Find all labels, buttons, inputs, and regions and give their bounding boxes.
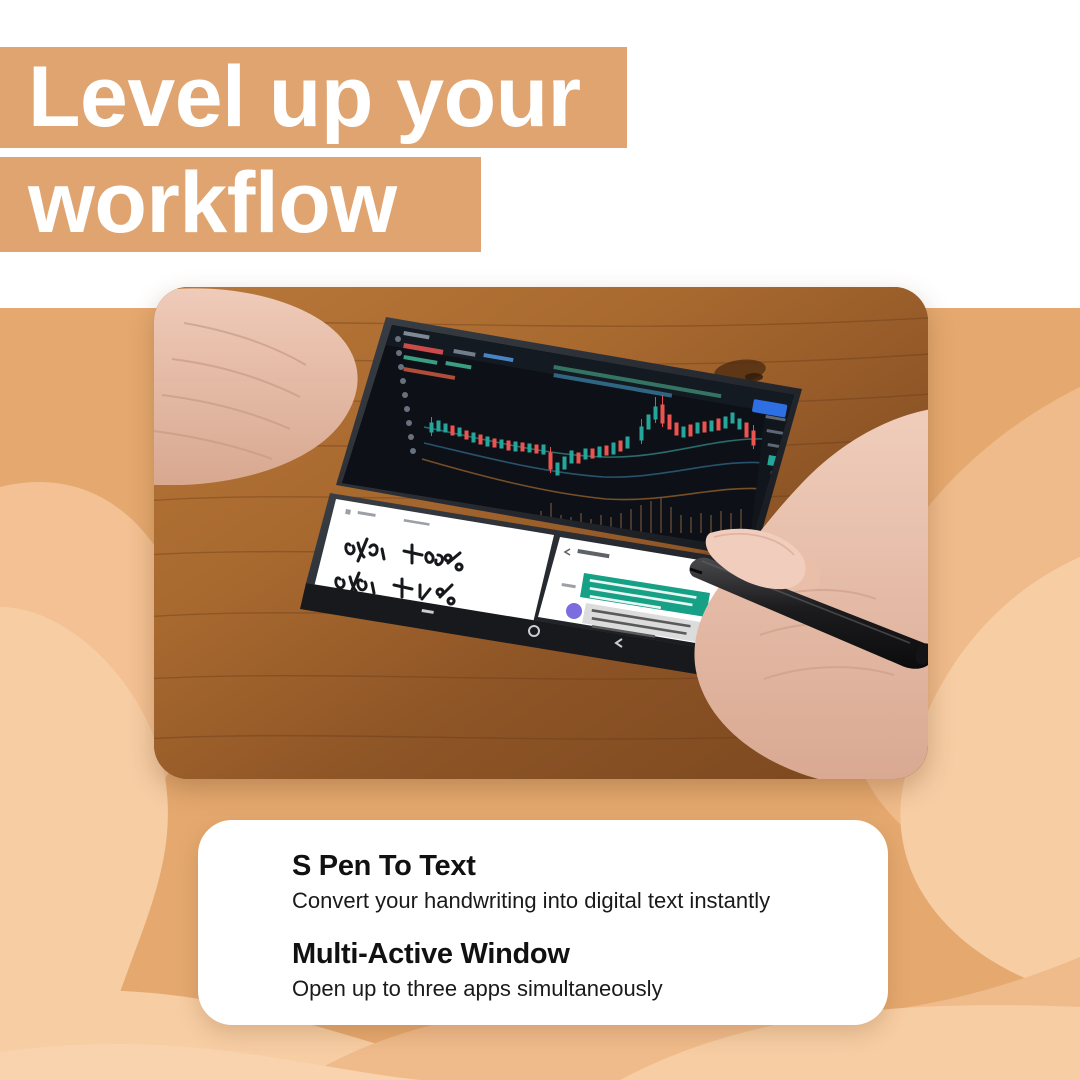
feature-item: S Pen To Text Convert your handwriting i…: [292, 848, 888, 916]
headline-line-1: Level up your: [0, 47, 627, 148]
product-photo: [154, 287, 928, 779]
feature-title: Multi-Active Window: [292, 936, 888, 972]
feature-title: S Pen To Text: [292, 848, 888, 884]
feature-description: Convert your handwriting into digital te…: [292, 886, 888, 916]
feature-description: Open up to three apps simultaneously: [292, 974, 888, 1004]
promo-graphic: Level up your workflow: [0, 0, 1080, 1080]
photo-illustration: [154, 287, 928, 779]
feature-item: Multi-Active Window Open up to three app…: [292, 936, 888, 1004]
features-card: S Pen To Text Convert your handwriting i…: [198, 820, 888, 1025]
headline-line-2: workflow: [0, 157, 481, 252]
